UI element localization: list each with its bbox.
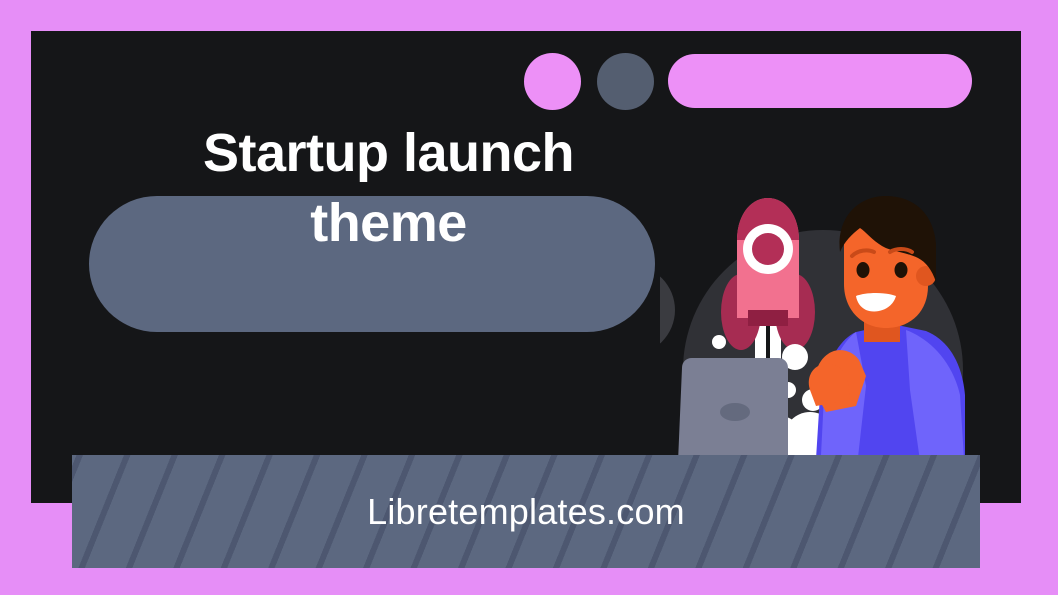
grey-dot-icon (597, 53, 654, 110)
website-label: Libretemplates.com (72, 455, 980, 568)
startup-launch-illustration (660, 190, 990, 475)
pink-bar-icon (668, 54, 972, 108)
pink-dot-icon (524, 53, 581, 110)
illustration-backdrop-secondary (660, 265, 675, 355)
rocket-tail (748, 310, 788, 326)
laptop-logo-icon (720, 403, 750, 421)
person-eye-right (895, 262, 908, 278)
page-title: Startup launch theme (90, 118, 687, 258)
rocket-window-glass (752, 233, 784, 265)
slide-canvas: Startup launch theme (0, 0, 1058, 595)
person-eye-left (857, 262, 870, 278)
content-panel: Startup launch theme (31, 31, 1021, 503)
footer-banner: Libretemplates.com (72, 455, 980, 568)
smoke-bubble (712, 335, 726, 349)
